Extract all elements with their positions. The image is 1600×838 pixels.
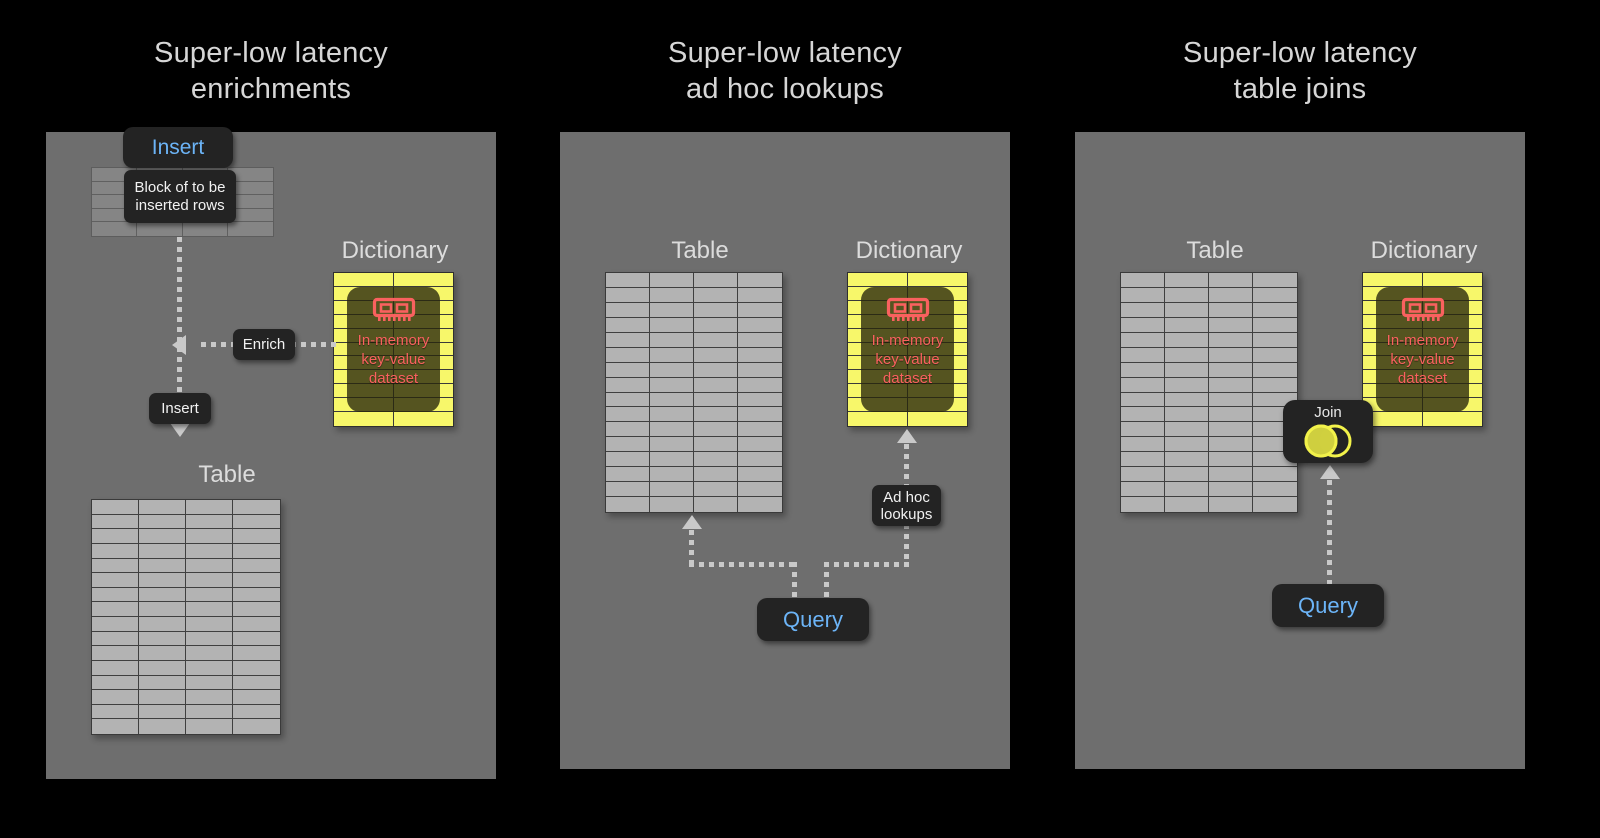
grid-cell <box>139 500 186 515</box>
grid-cell <box>186 529 233 544</box>
block-of-rows-chip[interactable]: Block of to be inserted rows <box>124 170 236 223</box>
grid-cell <box>694 318 738 333</box>
grid-cell <box>334 412 394 426</box>
grid-cell <box>1209 497 1253 512</box>
grid-cell <box>1121 378 1165 393</box>
grid-cell <box>92 676 139 691</box>
grid-cell <box>1165 378 1209 393</box>
grid-cell <box>92 661 139 676</box>
grid-cell <box>694 393 738 408</box>
grid-cell <box>137 222 182 236</box>
grid-cell <box>1121 393 1165 408</box>
grid-cell <box>1165 452 1209 467</box>
grid-cell <box>1121 452 1165 467</box>
grid-cell <box>1209 318 1253 333</box>
grid-cell <box>1209 333 1253 348</box>
grid-cell <box>186 676 233 691</box>
grid-cell <box>233 588 280 603</box>
grid-cell <box>1209 378 1253 393</box>
grid-cell <box>1165 407 1209 422</box>
enrich-chip[interactable]: Enrich <box>233 329 295 360</box>
grid-cell <box>738 333 782 348</box>
grid-cell <box>606 363 650 378</box>
grid-cell <box>1209 437 1253 452</box>
dictionary-overlay-text-2: In-memory key-value dataset <box>872 331 944 388</box>
grid-cell <box>139 617 186 632</box>
grid-cell <box>92 529 139 544</box>
grid-cell <box>606 303 650 318</box>
grid-cell <box>694 407 738 422</box>
grid-cell <box>1121 348 1165 363</box>
lookup-connector-h <box>824 562 909 567</box>
grid-cell <box>1253 288 1297 303</box>
table-grid-1 <box>91 499 281 735</box>
grid-cell <box>650 437 694 452</box>
grid-cell <box>233 661 280 676</box>
grid-cell <box>1121 303 1165 318</box>
panel-ad-hoc-lookups: Table Dictionary In-memory key-value dat… <box>560 132 1010 769</box>
grid-cell <box>738 407 782 422</box>
grid-cell <box>1253 303 1297 318</box>
grid-cell <box>606 273 650 288</box>
grid-cell <box>650 273 694 288</box>
grid-cell <box>92 588 139 603</box>
grid-cell <box>233 719 280 734</box>
grid-cell <box>650 348 694 363</box>
grid-cell <box>1209 303 1253 318</box>
grid-cell <box>394 412 454 426</box>
grid-cell <box>694 348 738 363</box>
join-chip[interactable]: Join <box>1283 400 1373 463</box>
grid-cell <box>1165 393 1209 408</box>
grid-cell <box>233 559 280 574</box>
grid-cell <box>1253 333 1297 348</box>
grid-cell <box>186 544 233 559</box>
panel-enrichments: Insert Block of to be inserted rows Enri… <box>46 132 496 779</box>
grid-cell <box>650 407 694 422</box>
grid-cell <box>650 333 694 348</box>
grid-cell <box>233 529 280 544</box>
grid-cell <box>186 500 233 515</box>
table-label-3: Table <box>1120 238 1310 264</box>
grid-cell <box>334 273 394 287</box>
grid-cell <box>139 646 186 661</box>
grid-cell <box>1423 273 1483 287</box>
grid-cell <box>738 303 782 318</box>
grid-cell <box>1209 288 1253 303</box>
table-query-connector-h <box>689 562 797 567</box>
grid-cell <box>1121 273 1165 288</box>
grid-cell <box>1209 348 1253 363</box>
grid-cell <box>139 559 186 574</box>
grid-cell <box>139 676 186 691</box>
grid-cell <box>1121 497 1165 512</box>
grid-cell <box>233 544 280 559</box>
grid-cell <box>139 529 186 544</box>
grid-cell <box>650 288 694 303</box>
grid-cell <box>738 437 782 452</box>
dictionary-label-3: Dictionary <box>1362 238 1486 264</box>
grid-cell <box>233 602 280 617</box>
grid-cell <box>1121 288 1165 303</box>
grid-cell <box>186 646 233 661</box>
ram-icon-2 <box>886 297 930 325</box>
grid-cell <box>738 422 782 437</box>
grid-cell <box>186 690 233 705</box>
grid-cell <box>1165 422 1209 437</box>
enrich-arrow-left <box>172 335 186 355</box>
grid-cell <box>186 719 233 734</box>
panel-table-joins: Table Dictionary In-memory key-value dat… <box>1075 132 1525 769</box>
grid-cell <box>233 573 280 588</box>
table-label-2: Table <box>605 238 795 264</box>
grid-cell <box>1165 348 1209 363</box>
join-query-connector <box>1327 480 1332 584</box>
grid-cell <box>650 422 694 437</box>
grid-cell <box>738 452 782 467</box>
grid-cell <box>92 646 139 661</box>
grid-cell <box>738 363 782 378</box>
grid-cell <box>1209 452 1253 467</box>
grid-cell <box>139 588 186 603</box>
grid-cell <box>139 690 186 705</box>
insert-chip-top[interactable]: Insert <box>123 127 233 168</box>
dictionary-label-1: Dictionary <box>333 238 457 264</box>
grid-cell <box>694 273 738 288</box>
grid-cell <box>606 482 650 497</box>
grid-cell <box>1363 273 1423 287</box>
dictionary-label-2: Dictionary <box>847 238 971 264</box>
grid-cell <box>92 222 137 236</box>
grid-cell <box>233 617 280 632</box>
table-grid-3 <box>1120 272 1298 513</box>
grid-cell <box>738 378 782 393</box>
grid-cell <box>1165 467 1209 482</box>
grid-cell <box>1165 497 1209 512</box>
grid-cell <box>738 288 782 303</box>
grid-cell <box>606 378 650 393</box>
grid-cell <box>1165 318 1209 333</box>
grid-cell <box>650 393 694 408</box>
grid-cell <box>233 690 280 705</box>
grid-cell <box>1209 467 1253 482</box>
grid-cell <box>908 412 968 426</box>
grid-cell <box>694 437 738 452</box>
grid-cell <box>92 617 139 632</box>
grid-cell <box>694 497 738 512</box>
grid-cell <box>186 602 233 617</box>
insert-arrow-down <box>170 423 190 437</box>
grid-cell <box>606 333 650 348</box>
grid-cell <box>606 288 650 303</box>
grid-cell <box>1121 482 1165 497</box>
grid-cell <box>1209 407 1253 422</box>
venn-diagram-icon <box>1298 422 1358 460</box>
ad-hoc-lookups-chip[interactable]: Ad hoc lookups <box>872 485 941 526</box>
grid-cell <box>92 602 139 617</box>
panel-title-enrichments: Super-low latency enrichments <box>46 35 496 107</box>
grid-cell <box>1165 288 1209 303</box>
grid-cell <box>848 273 908 287</box>
grid-cell <box>650 467 694 482</box>
grid-cell <box>233 646 280 661</box>
grid-cell <box>1121 333 1165 348</box>
grid-cell <box>1253 378 1297 393</box>
grid-cell <box>1121 422 1165 437</box>
grid-cell <box>650 303 694 318</box>
ram-icon-3 <box>1401 297 1445 325</box>
insert-chip-bottom[interactable]: Insert <box>149 393 211 424</box>
grid-cell <box>233 676 280 691</box>
grid-cell <box>694 288 738 303</box>
grid-cell <box>694 378 738 393</box>
grid-cell <box>1253 363 1297 378</box>
table-label-1: Table <box>132 462 322 488</box>
grid-cell <box>1209 393 1253 408</box>
grid-cell <box>1121 407 1165 422</box>
grid-cell <box>1253 318 1297 333</box>
grid-cell <box>1253 482 1297 497</box>
grid-cell <box>606 437 650 452</box>
grid-cell <box>139 573 186 588</box>
grid-cell <box>186 617 233 632</box>
grid-cell <box>606 467 650 482</box>
grid-cell <box>92 690 139 705</box>
grid-cell <box>1121 318 1165 333</box>
dictionary-overlay-2: In-memory key-value dataset <box>861 287 954 412</box>
grid-cell <box>139 661 186 676</box>
join-arrow-up <box>1320 465 1340 479</box>
grid-cell <box>1253 273 1297 288</box>
query-chip-2[interactable]: Query <box>757 598 869 641</box>
grid-cell <box>650 482 694 497</box>
grid-cell <box>1253 348 1297 363</box>
grid-cell <box>694 333 738 348</box>
grid-cell <box>92 500 139 515</box>
grid-cell <box>908 273 968 287</box>
grid-cell <box>139 515 186 530</box>
table-grid-2 <box>605 272 783 513</box>
grid-cell <box>738 318 782 333</box>
grid-cell <box>139 705 186 720</box>
grid-cell <box>694 452 738 467</box>
dictionary-overlay-text-3: In-memory key-value dataset <box>1387 331 1459 388</box>
grid-cell <box>233 515 280 530</box>
grid-cell <box>738 393 782 408</box>
grid-cell <box>1165 363 1209 378</box>
grid-cell <box>848 412 908 426</box>
grid-cell <box>738 467 782 482</box>
grid-cell <box>650 497 694 512</box>
grid-cell <box>186 573 233 588</box>
grid-cell <box>606 393 650 408</box>
grid-cell <box>606 407 650 422</box>
grid-cell <box>606 422 650 437</box>
grid-cell <box>1209 482 1253 497</box>
grid-cell <box>186 515 233 530</box>
grid-cell <box>92 544 139 559</box>
grid-cell <box>606 318 650 333</box>
grid-cell <box>650 452 694 467</box>
grid-cell <box>650 378 694 393</box>
grid-cell <box>606 452 650 467</box>
grid-cell <box>606 348 650 363</box>
grid-cell <box>186 588 233 603</box>
grid-cell <box>1209 273 1253 288</box>
grid-cell <box>233 632 280 647</box>
lookup-arrow-up <box>897 429 917 443</box>
grid-cell <box>1253 467 1297 482</box>
grid-cell <box>92 705 139 720</box>
grid-cell <box>1165 273 1209 288</box>
join-label: Join <box>1314 404 1342 421</box>
dictionary-overlay-text-1: In-memory key-value dataset <box>358 331 430 388</box>
table-query-connector-v <box>689 530 694 564</box>
grid-cell <box>694 303 738 318</box>
panel-title-ad-hoc-lookups: Super-low latency ad hoc lookups <box>560 35 1010 107</box>
grid-cell <box>1165 482 1209 497</box>
lookup-connector-down <box>904 524 909 566</box>
grid-cell <box>1209 422 1253 437</box>
grid-cell <box>233 500 280 515</box>
grid-cell <box>394 273 454 287</box>
grid-cell <box>1165 333 1209 348</box>
grid-cell <box>1121 437 1165 452</box>
grid-cell <box>1165 437 1209 452</box>
grid-cell <box>186 559 233 574</box>
grid-cell <box>92 719 139 734</box>
grid-cell <box>738 497 782 512</box>
grid-cell <box>650 318 694 333</box>
grid-cell <box>186 661 233 676</box>
dictionary-overlay-1: In-memory key-value dataset <box>347 287 440 412</box>
grid-cell <box>1253 497 1297 512</box>
grid-cell <box>233 705 280 720</box>
grid-cell <box>738 482 782 497</box>
grid-cell <box>694 467 738 482</box>
panel-title-table-joins: Super-low latency table joins <box>1075 35 1525 107</box>
grid-cell <box>738 348 782 363</box>
grid-cell <box>1121 467 1165 482</box>
grid-cell <box>606 497 650 512</box>
ram-icon-1 <box>372 297 416 325</box>
grid-cell <box>1209 363 1253 378</box>
grid-cell <box>1121 363 1165 378</box>
grid-cell <box>694 422 738 437</box>
grid-cell <box>694 363 738 378</box>
grid-cell <box>139 719 186 734</box>
dictionary-overlay-3: In-memory key-value dataset <box>1376 287 1469 412</box>
grid-cell <box>650 363 694 378</box>
grid-cell <box>92 559 139 574</box>
grid-cell <box>92 573 139 588</box>
grid-cell <box>694 482 738 497</box>
grid-cell <box>186 705 233 720</box>
grid-cell <box>228 222 273 236</box>
grid-cell <box>1423 412 1483 426</box>
grid-cell <box>186 632 233 647</box>
grid-cell <box>738 273 782 288</box>
grid-cell <box>139 602 186 617</box>
grid-cell <box>92 515 139 530</box>
lookup-connector-v <box>904 444 909 486</box>
query-chip-3[interactable]: Query <box>1272 584 1384 627</box>
grid-cell <box>1165 303 1209 318</box>
grid-cell <box>92 632 139 647</box>
grid-cell <box>183 222 228 236</box>
grid-cell <box>139 544 186 559</box>
table-query-arrow-up <box>682 515 702 529</box>
grid-cell <box>139 632 186 647</box>
